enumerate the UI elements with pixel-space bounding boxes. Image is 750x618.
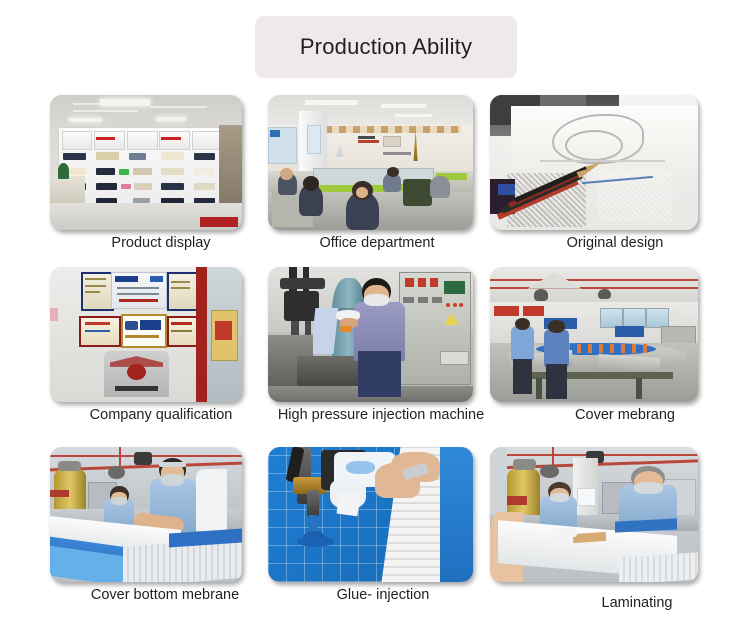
gallery-row: Product display	[0, 90, 750, 266]
laminating-photo[interactable]	[490, 447, 698, 582]
gallery-cell[interactable]: Cover bottom mebrane	[44, 442, 274, 618]
gallery-cell[interactable]: Product display	[44, 90, 274, 266]
gallery-caption: Laminating	[522, 595, 750, 611]
injection-machine-operator-image	[268, 267, 473, 402]
gallery-cell[interactable]: Laminating	[488, 442, 718, 618]
gallery-caption: Cover mebrang	[510, 407, 740, 423]
high-pressure-injection-machine-photo[interactable]	[268, 267, 473, 402]
open-plan-office-image	[268, 95, 473, 230]
gallery-caption: Company qualification	[46, 407, 276, 423]
production-gallery-grid: Product display	[0, 90, 750, 618]
gallery-cell[interactable]: Office department	[266, 90, 496, 266]
page-title: Production Ability	[300, 34, 472, 60]
cover-bottom-mebrane-photo[interactable]	[50, 447, 242, 582]
page-header-band: Production Ability	[255, 16, 517, 78]
gallery-row: Cover bottom mebrane	[0, 442, 750, 618]
gallery-cell[interactable]: Glue- injection	[266, 442, 496, 618]
gallery-cell[interactable]: Original design	[488, 90, 718, 266]
production-ability-page: Production Ability	[0, 0, 750, 618]
gallery-caption: Original design	[500, 235, 730, 251]
gallery-cell[interactable]: Company qualification	[44, 262, 274, 438]
gallery-caption: Office department	[262, 235, 492, 251]
certificate-wall-image	[50, 267, 242, 402]
original-design-photo[interactable]	[490, 95, 698, 230]
gallery-row: Company qualification	[0, 262, 750, 438]
workers-laminating-table-image	[490, 447, 698, 582]
showroom-shelving-image	[50, 95, 242, 230]
product-display-photo[interactable]	[50, 95, 242, 230]
office-department-photo[interactable]	[268, 95, 473, 230]
cover-mebrang-photo[interactable]	[490, 267, 698, 402]
glue-injection-photo[interactable]	[268, 447, 473, 582]
gallery-caption: High pressure injection machine	[266, 407, 496, 423]
workers-covering-sheet-image	[50, 447, 242, 582]
gallery-caption: Product display	[46, 235, 276, 251]
gallery-caption: Glue- injection	[268, 587, 498, 603]
glue-nozzle-blue-mat-image	[268, 447, 473, 582]
gallery-cell[interactable]: Cover mebrang	[488, 262, 718, 438]
factory-carousel-line-image	[490, 267, 698, 402]
gallery-caption: Cover bottom mebrane	[50, 587, 280, 603]
gallery-cell[interactable]: High pressure injection machine	[266, 262, 496, 438]
company-qualification-photo[interactable]	[50, 267, 242, 402]
pencils-sketch-fabric-image	[490, 95, 698, 230]
